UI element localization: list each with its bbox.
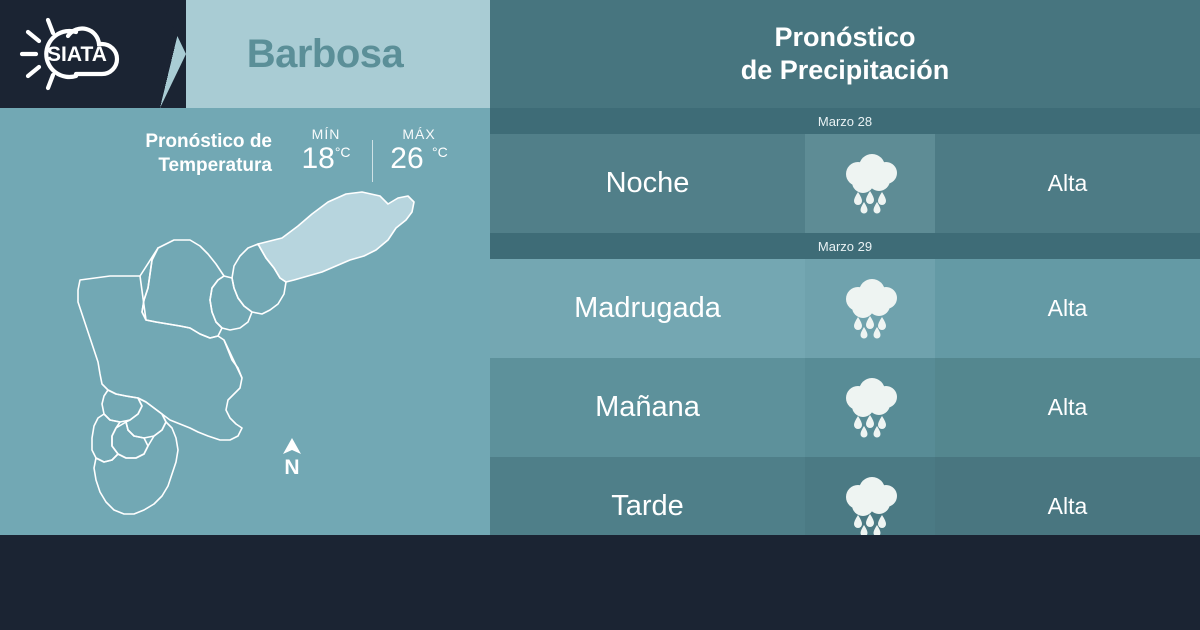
temperature-max-unit: °C <box>432 144 448 160</box>
date-band-2: Marzo 29 <box>490 233 1200 259</box>
rain-cloud-icon <box>805 358 935 457</box>
forecast-row-manana[interactable]: Mañana Alta <box>490 358 1200 457</box>
temperature-max-label: MÁX <box>373 126 465 142</box>
precipitation-title: Pronóstico de Precipitación <box>490 0 1200 108</box>
map-region-barbosa[interactable] <box>258 192 414 282</box>
siata-logo-icon: SIATA <box>14 12 146 96</box>
temperature-max: MÁX 26 °C <box>373 126 465 175</box>
compass-label: N <box>284 456 299 479</box>
aburra-valley-map <box>50 188 450 533</box>
forecast-period-label: Madrugada <box>490 259 805 358</box>
map-region-la-estrella[interactable] <box>92 414 120 462</box>
footer: @siatamedellin www.siata.gov.co Con el a… <box>0 535 1200 630</box>
temperature-min-label: MÍN <box>280 126 372 142</box>
rain-cloud-icon <box>805 259 935 358</box>
precipitation-title-line1: Pronóstico <box>774 21 915 54</box>
map-svg <box>50 188 450 533</box>
temperature-title-line2: Temperatura <box>62 154 272 178</box>
temperature-min: MÍN 18°C <box>280 126 372 175</box>
temperature-max-value: 26 °C <box>373 143 465 175</box>
temperature-title-line1: Pronóstico de <box>62 130 272 154</box>
weather-forecast-infographic: SIATA Barbosa Pronóstico de Precipitació… <box>0 0 1200 630</box>
header: SIATA Barbosa Pronóstico de Precipitació… <box>0 0 1200 108</box>
date-band-1: Marzo 28 <box>490 108 1200 134</box>
forecast-row-noche[interactable]: Noche Alta <box>490 134 1200 233</box>
temperature-min-unit: °C <box>335 144 351 160</box>
precipitation-title-line2: de Precipitación <box>741 54 950 87</box>
map-region-medellin[interactable] <box>78 248 242 440</box>
forecast-row-madrugada[interactable]: Madrugada Alta <box>490 259 1200 358</box>
rain-cloud-icon <box>805 134 935 233</box>
temperature-block: Pronóstico de Temperatura MÍN 18°C MÁX 2… <box>0 122 490 192</box>
map-divider-b <box>224 340 242 378</box>
compass-arrow-icon <box>281 438 303 456</box>
page-title: Barbosa <box>160 0 490 108</box>
temperature-min-value: 18°C <box>280 143 372 175</box>
forecast-probability: Alta <box>935 259 1200 358</box>
forecast-period-label: Noche <box>490 134 805 233</box>
forecast-period-label: Mañana <box>490 358 805 457</box>
temperature-title: Pronóstico de Temperatura <box>62 130 272 178</box>
temperature-values: MÍN 18°C MÁX 26 °C <box>280 126 465 182</box>
forecast-probability: Alta <box>935 134 1200 233</box>
temperature-map-panel: Pronóstico de Temperatura MÍN 18°C MÁX 2… <box>0 108 490 535</box>
compass-north-indicator: N <box>277 438 307 484</box>
precipitation-forecast-table: Marzo 28 Noche Alta <box>490 108 1200 535</box>
siata-logo-text: SIATA <box>47 43 107 66</box>
forecast-probability: Alta <box>935 358 1200 457</box>
